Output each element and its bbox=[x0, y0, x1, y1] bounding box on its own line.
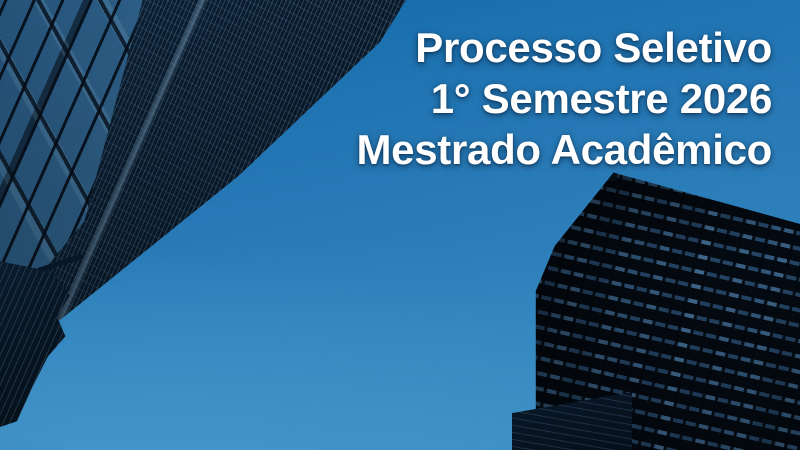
headline-block: Processo Seletivo 1° Semestre 2026 Mestr… bbox=[356, 22, 772, 175]
headline-line-2: 1° Semestre 2026 bbox=[356, 73, 772, 124]
promotional-banner: Processo Seletivo 1° Semestre 2026 Mestr… bbox=[0, 0, 800, 450]
headline-line-3: Mestrado Acadêmico bbox=[356, 124, 772, 175]
headline-line-1: Processo Seletivo bbox=[356, 22, 772, 73]
